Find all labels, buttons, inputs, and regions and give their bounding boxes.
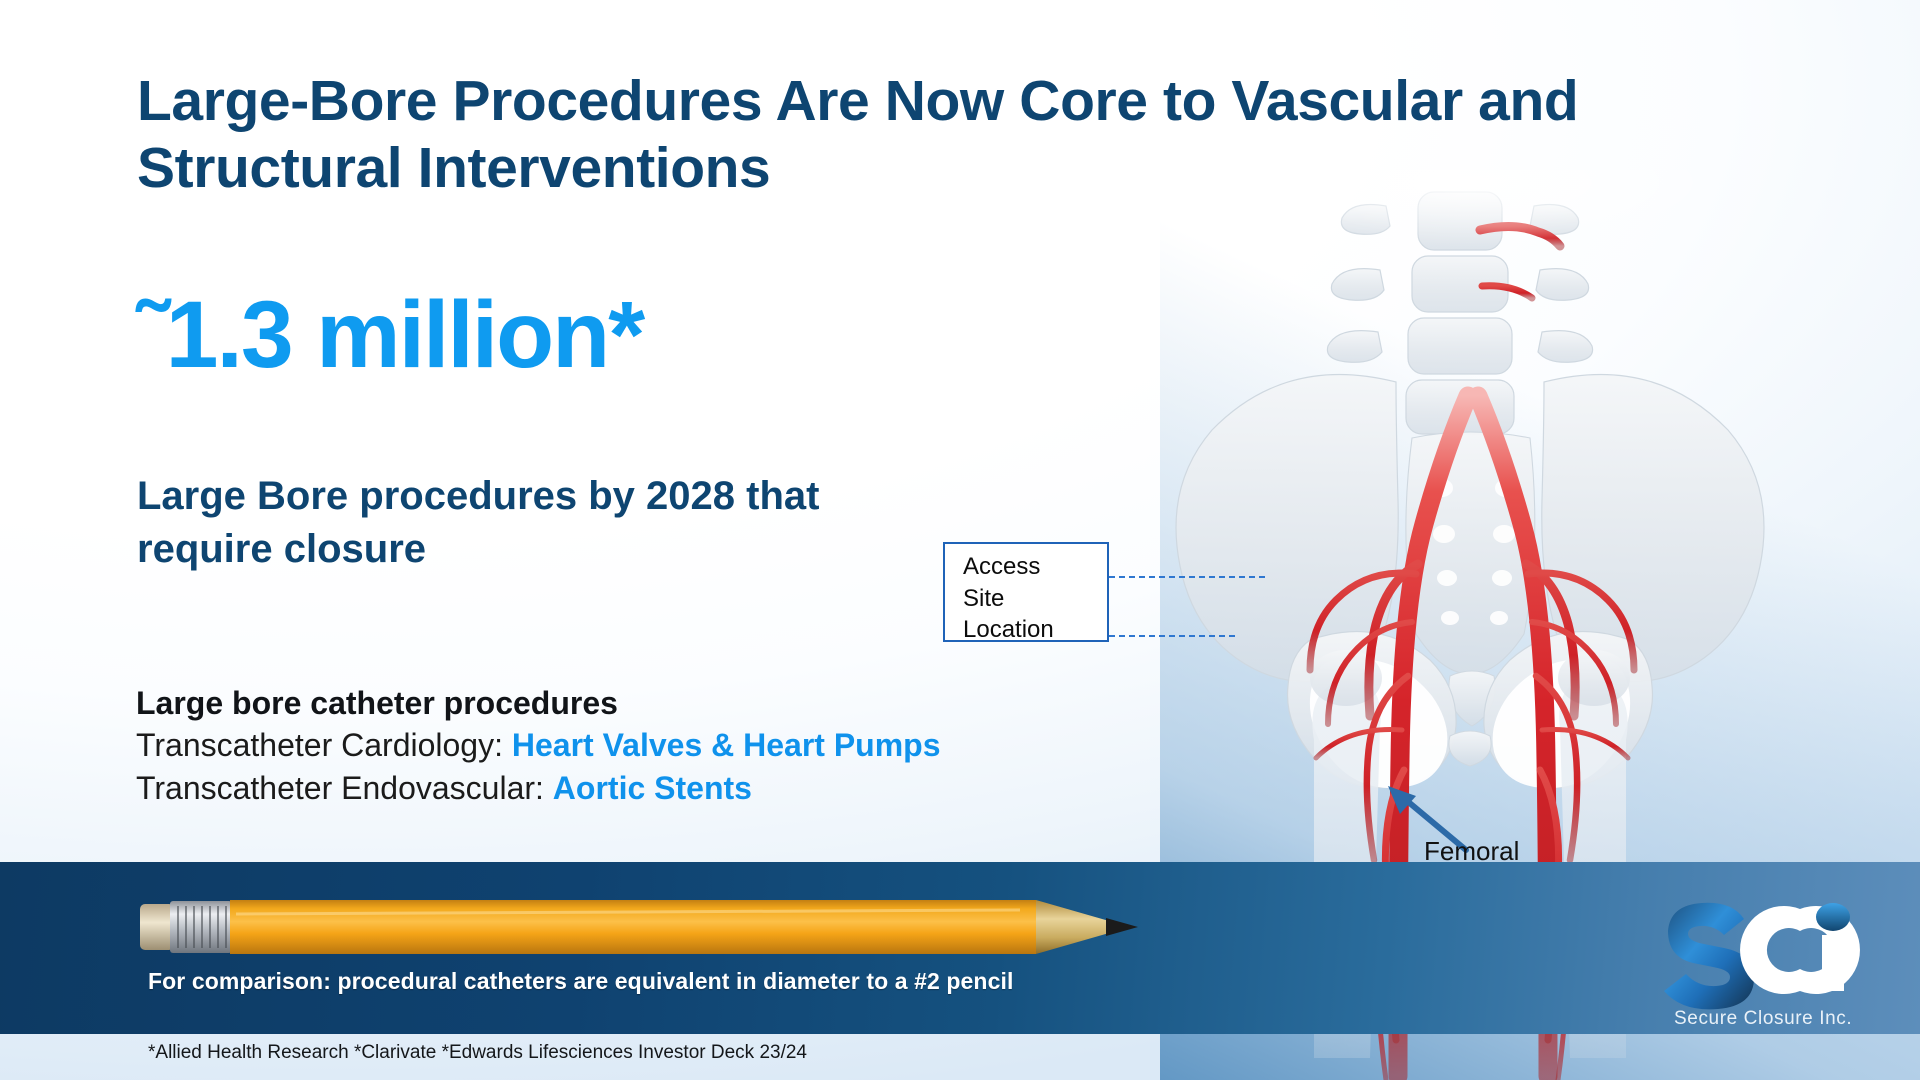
procedure-highlight: Heart Valves & Heart Pumps [512,727,941,763]
page-title: Large-Bore Procedures Are Now Core to Va… [137,68,1777,201]
callout-leader-line-lower [1109,635,1235,637]
band-caption: For comparison: procedural catheters are… [148,968,1013,995]
access-site-line-2: Site [963,583,1107,615]
pencil-barrel [230,900,1036,954]
procedures-title: Large bore catheter procedures [136,683,941,724]
procedures-block: Large bore catheter procedures Transcath… [136,683,941,810]
logo-letter-i-dot [1816,903,1850,931]
access-site-callout: Access Site Location [943,542,1109,642]
sci-logo [1650,893,1862,1023]
footnote-sources: *Allied Health Research *Clarivate *Edwa… [148,1042,807,1064]
pencil-eraser [140,904,174,950]
logo-tagline: Secure Closure Inc. [1674,1008,1852,1030]
access-site-line-3: Location [963,614,1107,646]
procedure-label: Transcatheter Endovascular: [136,770,553,806]
pencil-ferrule [170,901,232,953]
procedure-label: Transcatheter Cardiology: [136,727,512,763]
pencil-illustration [140,896,1180,958]
pencil-graphite-tip [1106,918,1138,936]
statistic-subhead: Large Bore procedures by 2028 that requi… [137,470,897,576]
procedure-row-endovascular: Transcatheter Endovascular: Aortic Stent… [136,767,941,810]
procedure-row-cardiology: Transcatheter Cardiology: Heart Valves &… [136,724,941,767]
access-site-line-1: Access [963,551,1107,583]
callout-leader-line-upper [1109,576,1265,578]
big-statistic: ˜1.3 million* [136,288,643,383]
logo-letter-i-stem [1822,935,1844,991]
procedure-highlight: Aortic Stents [553,770,752,806]
